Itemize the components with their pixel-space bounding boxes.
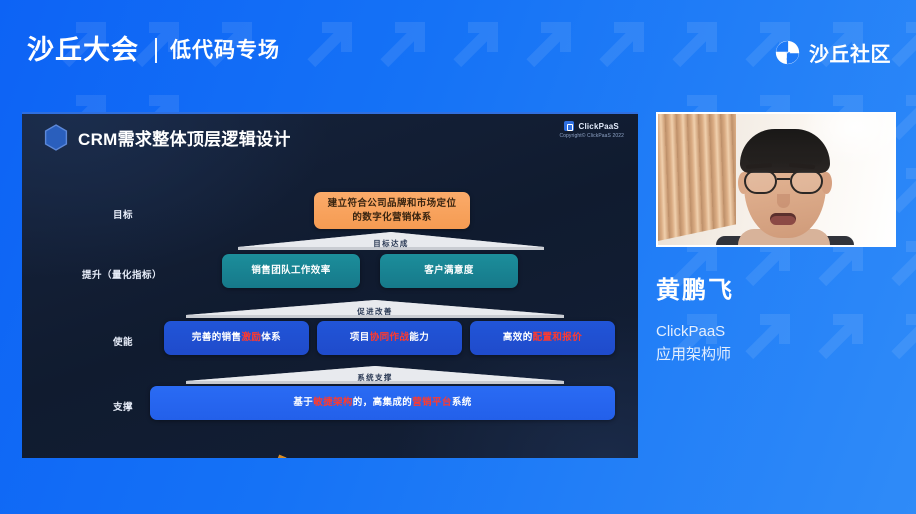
diagonal-arrow-icon bbox=[744, 241, 790, 287]
speaker-nose bbox=[777, 194, 790, 208]
presentation-stage: 沙丘大会 低代码专场 沙丘社区 bbox=[0, 0, 916, 514]
enabler-box-1-label: 完善的销售激励体系 bbox=[192, 331, 281, 345]
connector-label-3: 系统支撑 bbox=[186, 372, 564, 383]
window-blinds bbox=[658, 112, 736, 241]
brand-main-title: 沙丘大会 bbox=[27, 37, 139, 64]
community-logo: 沙丘社区 bbox=[775, 38, 891, 67]
enabler-box-1[interactable]: 完善的销售激励体系 bbox=[164, 321, 309, 355]
speaker-role: 应用架构师 bbox=[656, 344, 734, 367]
brand-subtitle: 低代码专场 bbox=[170, 40, 280, 61]
metric-box-1-label: 销售团队工作效率 bbox=[251, 264, 330, 278]
slide-title-row: CRM需求整体顶层逻辑设计 bbox=[44, 124, 291, 151]
metric-box-1[interactable]: 销售团队工作效率 bbox=[222, 254, 360, 288]
metric-box-2-label: 客户满意度 bbox=[424, 264, 474, 278]
speaker-video-feed[interactable] bbox=[656, 112, 896, 247]
shaqiu-s-mark-icon bbox=[775, 40, 800, 65]
row-label-enablement: 使能 bbox=[84, 334, 162, 348]
slide-title: CRM需求整体顶层逻辑设计 bbox=[78, 125, 291, 150]
deck-copyright: Copyright© ClickPaaS 2022 bbox=[559, 133, 624, 139]
enabler-box-3-label: 高效的配置和报价 bbox=[503, 331, 582, 345]
speaker-company: ClickPaaS bbox=[656, 321, 734, 344]
connector-improvement: 促进改善 bbox=[186, 300, 564, 318]
event-header: 沙丘大会 低代码专场 沙丘社区 bbox=[0, 0, 916, 100]
speaker-name: 黄鹏飞 bbox=[656, 278, 734, 304]
connector-label-2: 促进改善 bbox=[186, 306, 564, 317]
pencil-icon bbox=[269, 454, 286, 458]
community-logo-text: 沙丘社区 bbox=[809, 38, 891, 67]
diagonal-arrow-icon bbox=[817, 314, 863, 360]
clickpaas-logo-icon bbox=[564, 121, 574, 131]
connector-goal-achievement: 目标达成 bbox=[238, 232, 544, 250]
diagonal-arrow-icon bbox=[890, 314, 916, 360]
enabler-box-3[interactable]: 高效的配置和报价 bbox=[470, 321, 615, 355]
row-label-metrics: 提升（量化指标） bbox=[62, 267, 182, 281]
diagonal-arrow-icon bbox=[744, 314, 790, 360]
brand-divider bbox=[155, 38, 157, 63]
support-box-label: 基于敏捷架构的，高集成的营销平台系统 bbox=[293, 396, 471, 410]
diagonal-arrow-icon bbox=[890, 241, 916, 287]
metric-box-2[interactable]: 客户满意度 bbox=[380, 254, 518, 288]
speaker-info: 黄鹏飞 ClickPaaS 应用架构师 bbox=[656, 278, 734, 366]
goal-box[interactable]: 建立符合公司品牌和市场定位的数字化营销体系 bbox=[314, 192, 470, 229]
enabler-box-2[interactable]: 项目协同作战能力 bbox=[317, 321, 462, 355]
hexagon-icon bbox=[44, 124, 68, 151]
deck-logo: ClickPaaS Copyright© ClickPaaS 2022 bbox=[559, 121, 624, 139]
support-box[interactable]: 基于敏捷架构的，高集成的营销平台系统 bbox=[150, 386, 615, 420]
diagonal-arrow-icon bbox=[817, 241, 863, 287]
goal-box-line1: 建立符合公司品牌和市场定位的数字化营销体系 bbox=[328, 197, 457, 225]
deck-logo-name: ClickPaaS bbox=[578, 122, 619, 131]
row-label-goal: 目标 bbox=[84, 207, 162, 221]
slide-canvas[interactable]: CRM需求整体顶层逻辑设计 ClickPaaS Copyright© Click… bbox=[22, 112, 638, 458]
connector-system-support: 系统支撑 bbox=[186, 366, 564, 384]
glasses-icon bbox=[741, 170, 830, 194]
connector-label-1: 目标达成 bbox=[238, 238, 544, 249]
enabler-box-2-label: 项目协同作战能力 bbox=[350, 331, 429, 345]
speaker-mouth bbox=[770, 213, 796, 225]
brand: 沙丘大会 低代码专场 bbox=[27, 37, 280, 64]
